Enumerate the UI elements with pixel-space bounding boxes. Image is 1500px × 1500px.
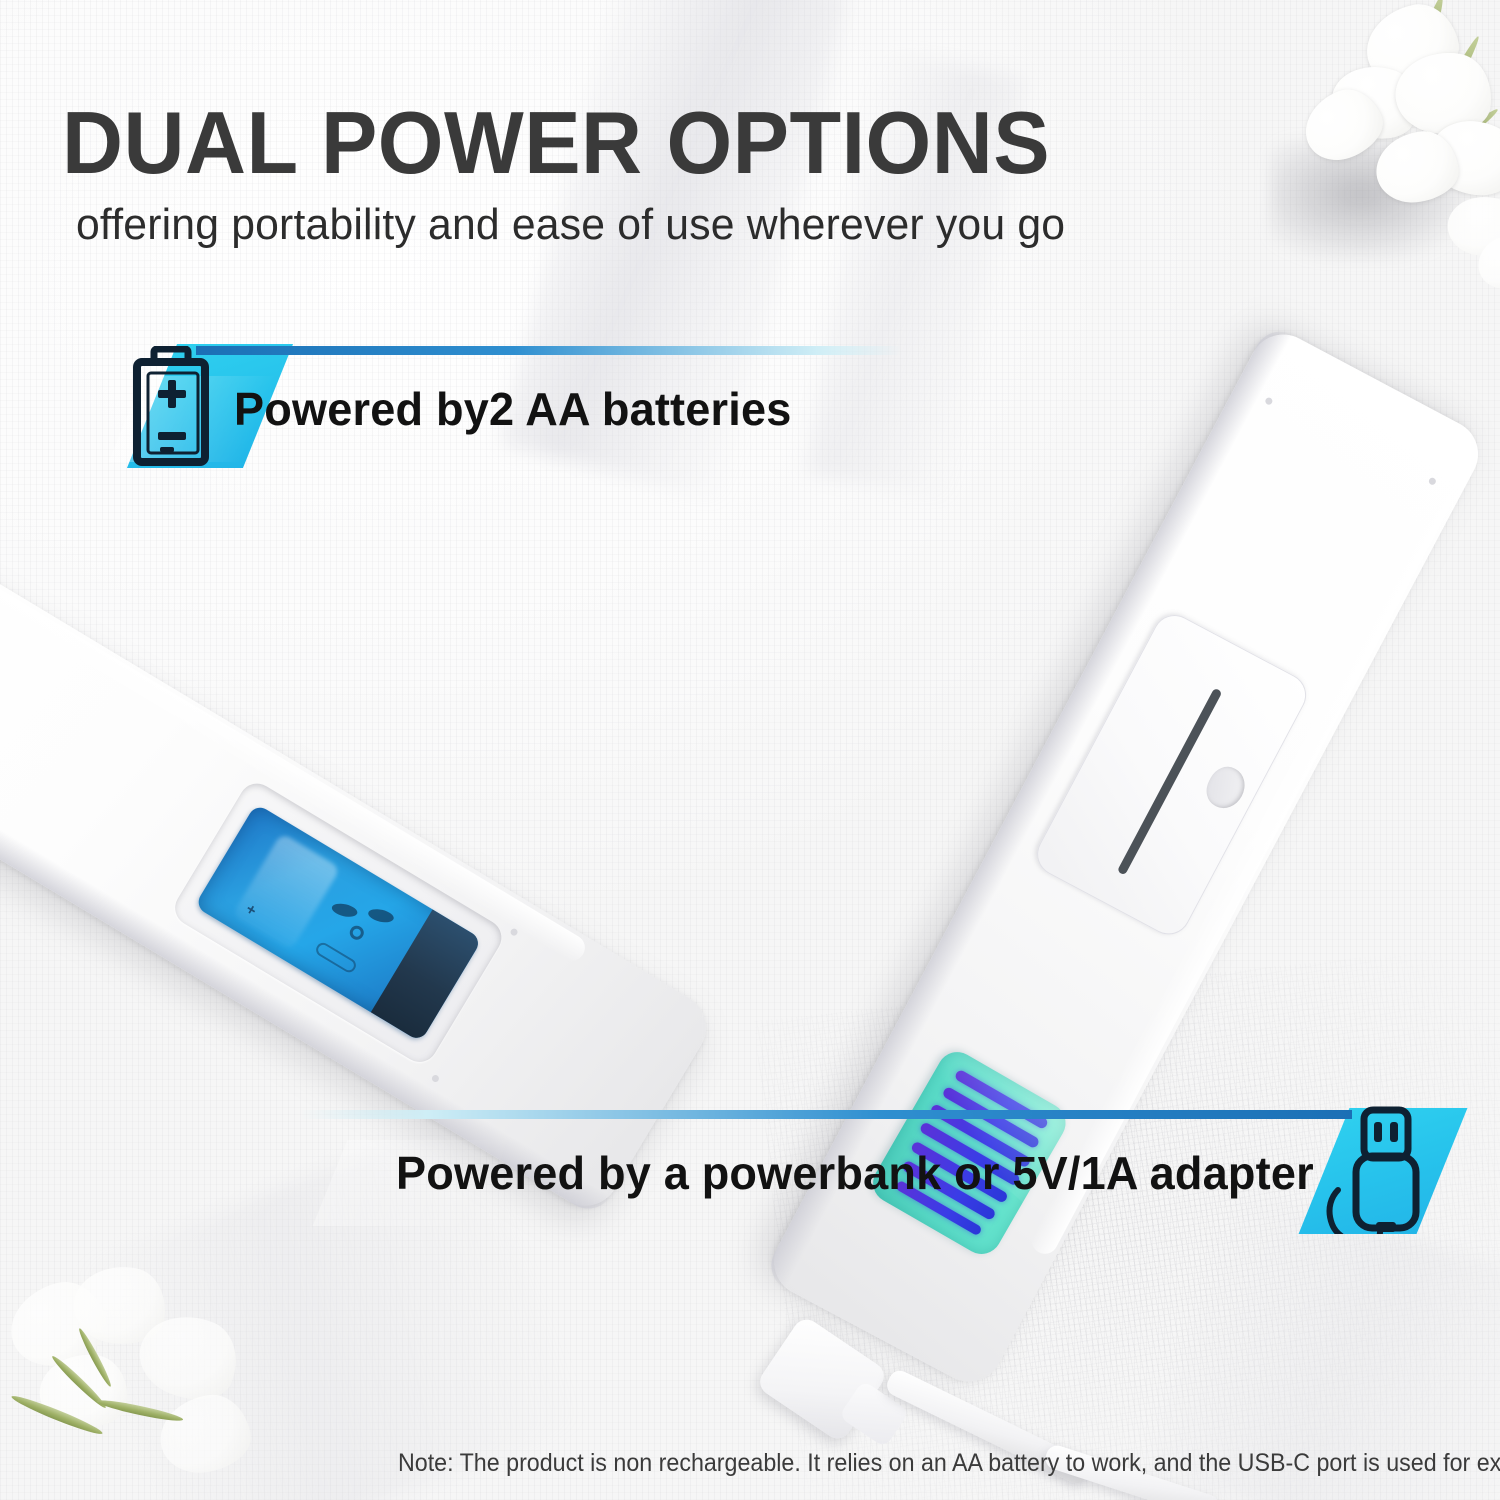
page-title: DUAL POWER OPTIONS: [62, 92, 1050, 194]
device-dot: [1428, 477, 1437, 486]
footer-note: Note: The product is non rechargeable. I…: [398, 1449, 1500, 1478]
battery-terminal: [371, 909, 483, 1042]
door-notch: [1200, 761, 1252, 815]
flower-decoration-bottom-left: [0, 1258, 270, 1500]
device-dot: [1264, 396, 1273, 405]
banner-top-rule: [300, 1110, 1352, 1119]
battery-label-mark: [314, 940, 359, 975]
battery-label-mark: [367, 907, 395, 925]
device-dot: [431, 1074, 441, 1084]
banner-battery-label: Powered by2 AA batteries: [234, 382, 792, 436]
battery-gloss: [232, 833, 340, 951]
door-seam: [1117, 688, 1223, 876]
battery-label-mark: [331, 901, 359, 919]
page-subtitle: offering portability and ease of use whe…: [76, 200, 1065, 250]
product-marketing-image: DUAL POWER OPTIONS offering portability …: [0, 0, 1500, 1500]
battery-icon: [128, 346, 214, 468]
battery-label-mark: [347, 923, 366, 942]
flower-petal: [155, 1390, 255, 1478]
usb-plug-icon: [1318, 1104, 1438, 1234]
banner-top-rule: [196, 346, 902, 355]
banner-usb-label: Powered by a powerbank or 5V/1A adapter: [396, 1146, 1314, 1200]
flower-decoration-top-right: [1280, 0, 1500, 320]
